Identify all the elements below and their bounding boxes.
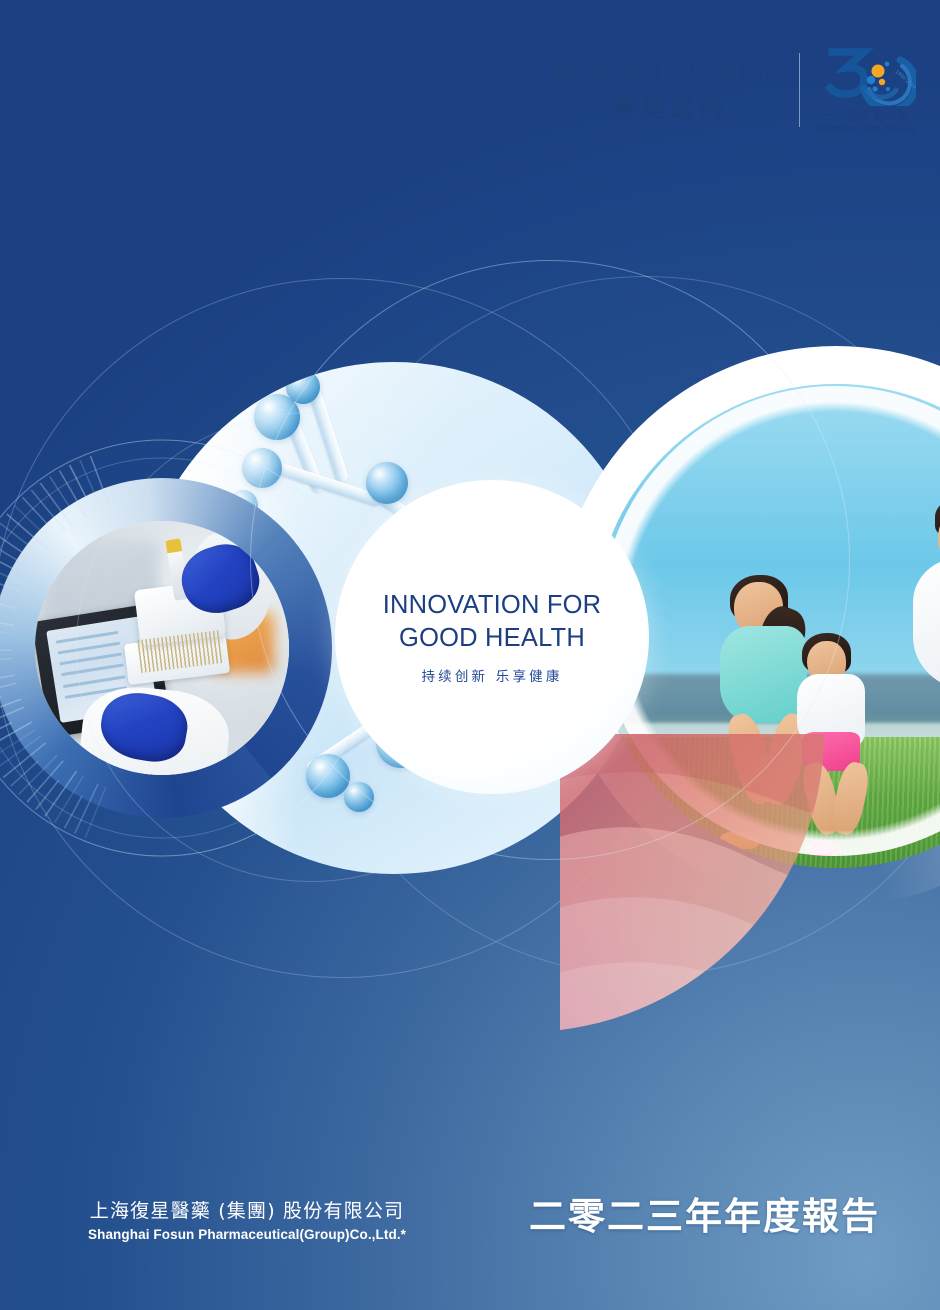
tagline-chinese: 持续创新 乐享健康 [421,665,562,685]
company-name-en: Shanghai Fosun Pharmaceutical(Group)Co.,… [88,1227,406,1242]
wordmark-fosun: FOSUN [550,58,654,90]
brand-header: FOSUNPHARMA 复星医药 1994-2024 三十而新 [550,44,918,135]
tagline-line-2: GOOD HEALTH [383,622,602,654]
company-name-block: 上海復星醫藥 (集團) 股份有限公司 Shanghai Fosun Pharma… [88,1196,406,1242]
wordmark-english: FOSUNPHARMA [550,60,785,89]
company-name-cn: 上海復星醫藥 (集團) 股份有限公司 [88,1196,406,1223]
logo-divider [799,53,800,127]
anniversary-slogan-en: Together We Thrive [817,123,916,135]
fosun-pharma-wordmark: FOSUNPHARMA 复星医药 [550,60,785,120]
tagline-circle: INNOVATION FOR GOOD HEALTH 持续创新 乐享健康 [335,480,649,794]
tagline-english: INNOVATION FOR GOOD HEALTH [383,589,602,653]
annual-report-cover: FOSUNPHARMA 复星医药 1994-2024 三十而新 [0,0,940,1310]
anniversary-logo: 1994-2024 三十而新 再出发 Together We Thrive [814,44,918,135]
wordmark-chinese: 复星医药 [607,96,728,120]
tagline-line-1: INNOVATION FOR [383,591,602,619]
anniversary-slogan-cn: 三十而新 再出发 [824,107,909,123]
cover-footer: 上海復星醫藥 (集團) 股份有限公司 Shanghai Fosun Pharma… [0,1160,940,1310]
anniversary-30-icon: 1994-2024 [816,44,916,106]
report-title: 二零二三年年度報告 [529,1186,880,1240]
wordmark-pharma: PHARMA [654,58,785,90]
